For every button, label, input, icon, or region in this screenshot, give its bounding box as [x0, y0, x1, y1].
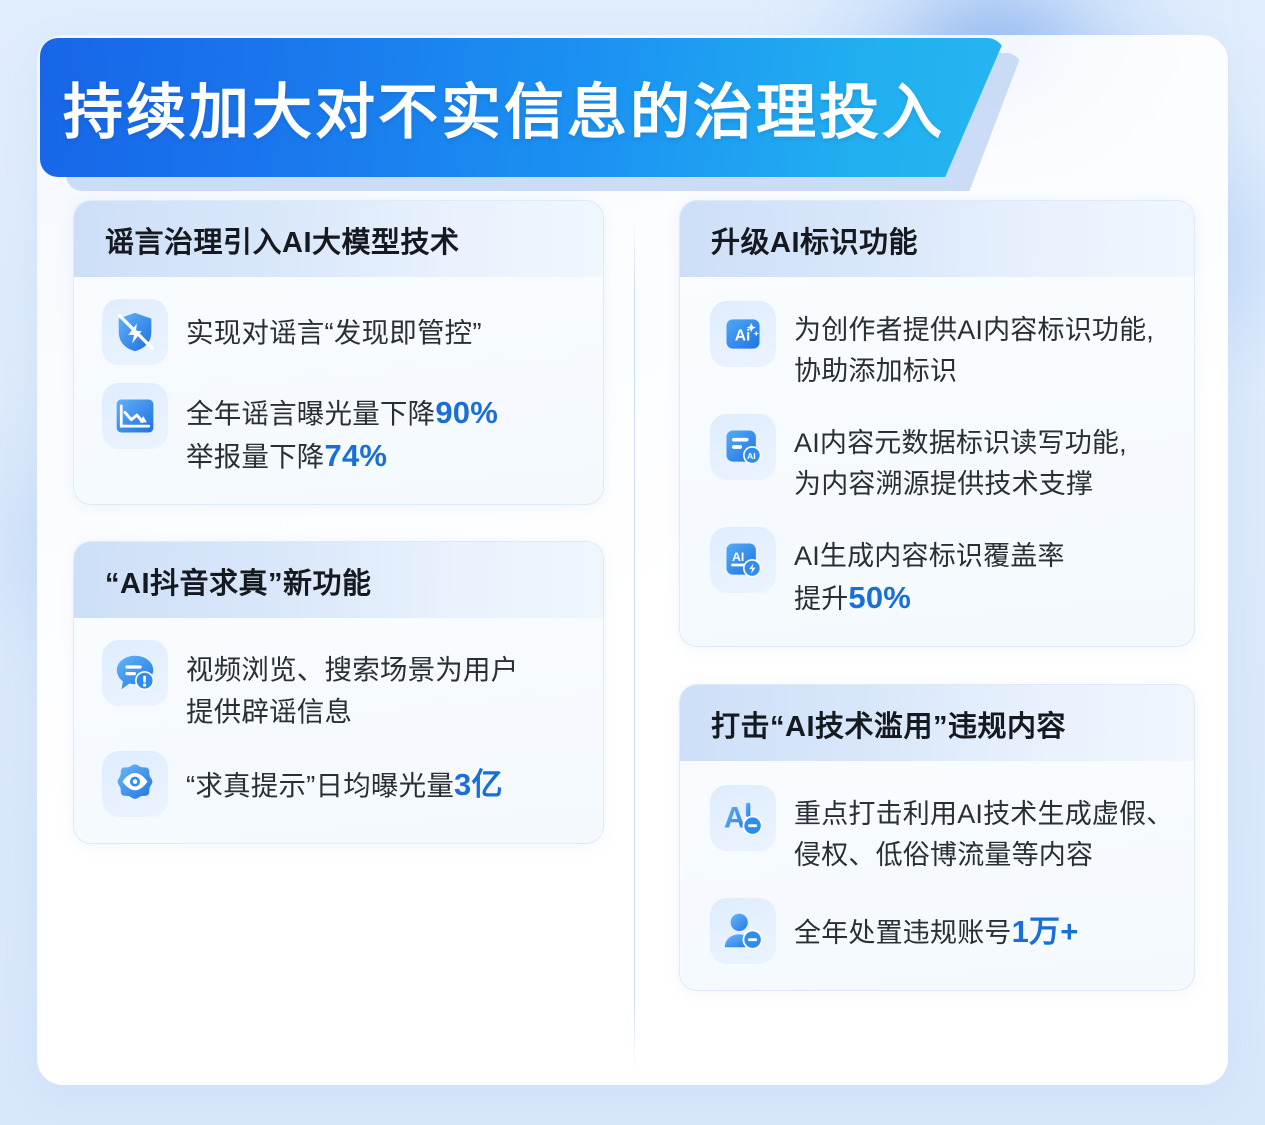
list-item-text: 重点打击利用AI技术生成虚假、侵权、低俗博流量等内容 [794, 785, 1174, 876]
ai-sparkle-icon: Ai [710, 301, 776, 367]
text-segment: 协助添加标识 [794, 356, 957, 386]
text-line: 视频浏览、搜索场景为用户 [186, 649, 518, 691]
right-column: 升级AI标识功能 Ai 为创作者提供AI内容标识功能,协助添加标识 AI AI内… [634, 200, 1228, 1070]
card-title: 升级AI标识功能 [711, 219, 1194, 261]
speech-bubble-alert-icon [102, 640, 168, 706]
card-header: 谣言治理引入AI大模型技术 [74, 201, 603, 277]
svg-text:AI: AI [732, 550, 744, 564]
list-item: 视频浏览、搜索场景为用户提供辟谣信息 [102, 640, 585, 733]
text-segment: 重点打击利用AI技术生成虚假、 [794, 799, 1174, 829]
text-line: 全年谣言曝光量下降90% [186, 392, 498, 435]
svg-text:AI: AI [747, 451, 756, 461]
text-line: 重点打击利用AI技术生成虚假、 [794, 794, 1174, 835]
text-segment: 全年谣言曝光量下降 [186, 398, 435, 429]
card-body: 视频浏览、搜索场景为用户提供辟谣信息 “求真提示”日均曝光量3亿 [74, 618, 603, 843]
list-item-text: 为创作者提供AI内容标识功能,协助添加标识 [794, 301, 1154, 392]
cards-layout: 谣言治理引入AI大模型技术 实现对谣言“发现即管控” 全年谣言曝光量下降90%举… [37, 200, 1228, 1070]
text-line: 为内容溯源提供技术支撑 [794, 464, 1127, 505]
page-background: 持续加大对不实信息的治理投入 谣言治理引入AI大模型技术 实现对谣言“发现即管控… [0, 0, 1265, 1125]
text-segment: 实现对谣言“发现即管控” [186, 317, 482, 348]
card-header: 打击“AI技术滥用”违规内容 [680, 685, 1194, 761]
declining-chart-icon [102, 383, 168, 449]
title-banner: 持续加大对不实信息的治理投入 [40, 38, 1005, 177]
shield-slash-bolt-icon [102, 299, 168, 365]
highlight-metric: 74% [325, 438, 388, 473]
left-column: 谣言治理引入AI大模型技术 实现对谣言“发现即管控” 全年谣言曝光量下降90%举… [37, 200, 634, 1070]
list-item-text: “求真提示”日均曝光量3亿 [186, 751, 503, 807]
text-line: 举报量下降74% [186, 435, 498, 478]
user-block-icon [710, 898, 776, 964]
list-item-text: AI内容元数据标识读写功能,为内容溯源提供技术支撑 [794, 414, 1127, 505]
info-card: 谣言治理引入AI大模型技术 实现对谣言“发现即管控” 全年谣言曝光量下降90%举… [73, 200, 604, 505]
text-segment: 为创作者提供AI内容标识功能, [794, 315, 1154, 345]
highlight-metric: 90% [435, 395, 498, 430]
card-body: Ai 为创作者提供AI内容标识功能,协助添加标识 AI AI内容元数据标识读写功… [680, 277, 1194, 646]
list-item: 全年处置违规账号1万+ [710, 898, 1180, 964]
list-item-text: 实现对谣言“发现即管控” [186, 299, 482, 354]
text-segment: 举报量下降 [186, 441, 325, 472]
text-line: AI生成内容标识覆盖率 [794, 536, 1065, 577]
list-item-text: 视频浏览、搜索场景为用户提供辟谣信息 [186, 640, 518, 733]
card-title: 打击“AI技术滥用”违规内容 [711, 703, 1194, 745]
card-body: A 重点打击利用AI技术生成虚假、侵权、低俗博流量等内容 全年处置违规账号1万+ [680, 761, 1194, 990]
card-title: “AI抖音求真”新功能 [105, 560, 603, 602]
text-line: “求真提示”日均曝光量3亿 [186, 764, 503, 807]
text-line: 实现对谣言“发现即管控” [186, 312, 482, 354]
list-item: AI AI内容元数据标识读写功能,为内容溯源提供技术支撑 [710, 414, 1180, 505]
list-item: 全年谣言曝光量下降90%举报量下降74% [102, 383, 585, 478]
list-item-text: AI生成内容标识覆盖率提升50% [794, 527, 1065, 620]
svg-text:Ai: Ai [735, 327, 751, 344]
info-card: 升级AI标识功能 Ai 为创作者提供AI内容标识功能,协助添加标识 AI AI内… [679, 200, 1195, 647]
eye-badge-icon [102, 751, 168, 817]
text-line: 侵权、低俗博流量等内容 [794, 835, 1174, 876]
card-body: 实现对谣言“发现即管控” 全年谣言曝光量下降90%举报量下降74% [74, 277, 603, 504]
card-header: 升级AI标识功能 [680, 201, 1194, 277]
highlight-metric: 3亿 [454, 767, 503, 802]
text-segment: 为内容溯源提供技术支撑 [794, 469, 1093, 499]
ai-document-icon: AI [710, 414, 776, 480]
svg-text:A: A [724, 802, 745, 835]
text-line: 提供辟谣信息 [186, 691, 518, 733]
text-line: 提升50% [794, 577, 1065, 620]
info-card: 打击“AI技术滥用”违规内容 A 重点打击利用AI技术生成虚假、侵权、低俗博流量… [679, 684, 1195, 991]
text-segment: AI内容元数据标识读写功能, [794, 428, 1127, 458]
text-line: 协助添加标识 [794, 351, 1154, 392]
text-segment: AI生成内容标识覆盖率 [794, 541, 1065, 571]
list-item: A 重点打击利用AI技术生成虚假、侵权、低俗博流量等内容 [710, 785, 1180, 876]
text-segment: 提供辟谣信息 [186, 696, 352, 727]
page-title: 持续加大对不实信息的治理投入 [63, 64, 945, 151]
card-title: 谣言治理引入AI大模型技术 [105, 219, 603, 261]
ai-block-icon: A [710, 785, 776, 851]
highlight-metric: 1万+ [1012, 914, 1079, 949]
card-header: “AI抖音求真”新功能 [74, 542, 603, 618]
text-line: 全年处置违规账号1万+ [794, 911, 1079, 954]
text-line: 为创作者提供AI内容标识功能, [794, 310, 1154, 351]
list-item: AI AI生成内容标识覆盖率提升50% [710, 527, 1180, 620]
list-item: Ai 为创作者提供AI内容标识功能,协助添加标识 [710, 301, 1180, 392]
text-line: AI内容元数据标识读写功能, [794, 423, 1127, 464]
info-card: “AI抖音求真”新功能 视频浏览、搜索场景为用户提供辟谣信息 “求真提示”日均曝… [73, 541, 604, 844]
text-segment: 视频浏览、搜索场景为用户 [186, 654, 518, 685]
list-item: 实现对谣言“发现即管控” [102, 299, 585, 365]
text-segment: 全年处置违规账号 [794, 918, 1012, 948]
ai-bolt-card-icon: AI [710, 527, 776, 593]
text-segment: “求真提示”日均曝光量 [186, 770, 454, 801]
text-segment: 侵权、低俗博流量等内容 [794, 840, 1093, 870]
list-item: “求真提示”日均曝光量3亿 [102, 751, 585, 817]
text-segment: 提升 [794, 584, 848, 614]
list-item-text: 全年谣言曝光量下降90%举报量下降74% [186, 383, 498, 478]
highlight-metric: 50% [848, 580, 911, 615]
list-item-text: 全年处置违规账号1万+ [794, 898, 1079, 954]
